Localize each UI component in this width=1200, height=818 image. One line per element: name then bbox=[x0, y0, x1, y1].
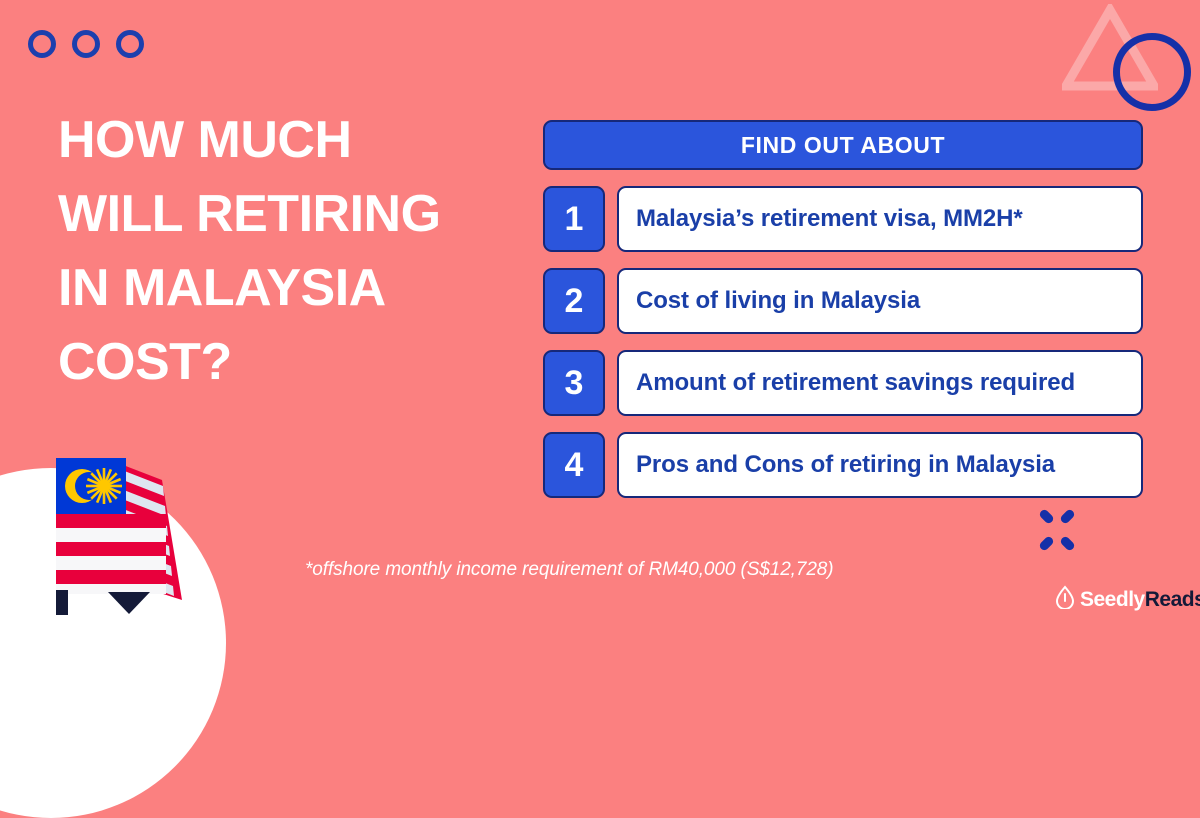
list-item-number: 3 bbox=[543, 350, 605, 416]
circle-outline-icon bbox=[1113, 33, 1191, 111]
page-title-line: HOW MUCH bbox=[58, 103, 528, 177]
list-item-label[interactable]: Pros and Cons of retiring in Malaysia bbox=[617, 432, 1143, 498]
list-item-number: 4 bbox=[543, 432, 605, 498]
page-title-line: IN MALAYSIA bbox=[58, 251, 528, 325]
seedly-reads-logo[interactable]: SeedlyReads bbox=[1055, 586, 1200, 612]
page-title-line: WILL RETIRING bbox=[58, 177, 528, 251]
logo-primary-text: Seedly bbox=[1080, 588, 1145, 611]
list-item[interactable]: 1 Malaysia’s retirement visa, MM2H* bbox=[543, 186, 1143, 252]
seedly-droplet-icon bbox=[1055, 585, 1075, 614]
find-out-about-panel: FIND OUT ABOUT 1 Malaysia’s retirement v… bbox=[543, 120, 1143, 498]
top-left-dots bbox=[28, 30, 144, 58]
list-item[interactable]: 3 Amount of retirement savings required bbox=[543, 350, 1143, 416]
list-item[interactable]: 2 Cost of living in Malaysia bbox=[543, 268, 1143, 334]
list-item-number: 1 bbox=[543, 186, 605, 252]
list-item-label[interactable]: Amount of retirement savings required bbox=[617, 350, 1143, 416]
list-item-number: 2 bbox=[543, 268, 605, 334]
panel-header: FIND OUT ABOUT bbox=[543, 120, 1143, 170]
page-title: HOW MUCH WILL RETIRING IN MALAYSIA COST? bbox=[58, 103, 528, 399]
list-item[interactable]: 4 Pros and Cons of retiring in Malaysia bbox=[543, 432, 1143, 498]
list-item-label[interactable]: Malaysia’s retirement visa, MM2H* bbox=[617, 186, 1143, 252]
list-item-label[interactable]: Cost of living in Malaysia bbox=[617, 268, 1143, 334]
circle-outline-icon bbox=[72, 30, 100, 58]
page-title-line: COST? bbox=[58, 325, 528, 399]
logo-secondary-text: Reads bbox=[1145, 588, 1200, 611]
circle-outline-icon bbox=[28, 30, 56, 58]
circle-outline-icon bbox=[116, 30, 144, 58]
topic-list: 1 Malaysia’s retirement visa, MM2H* 2 Co… bbox=[543, 186, 1143, 498]
four-petal-icon bbox=[1036, 509, 1078, 551]
footnote: *offshore monthly income requirement of … bbox=[305, 559, 834, 581]
malaysia-flag-icon bbox=[30, 440, 210, 615]
